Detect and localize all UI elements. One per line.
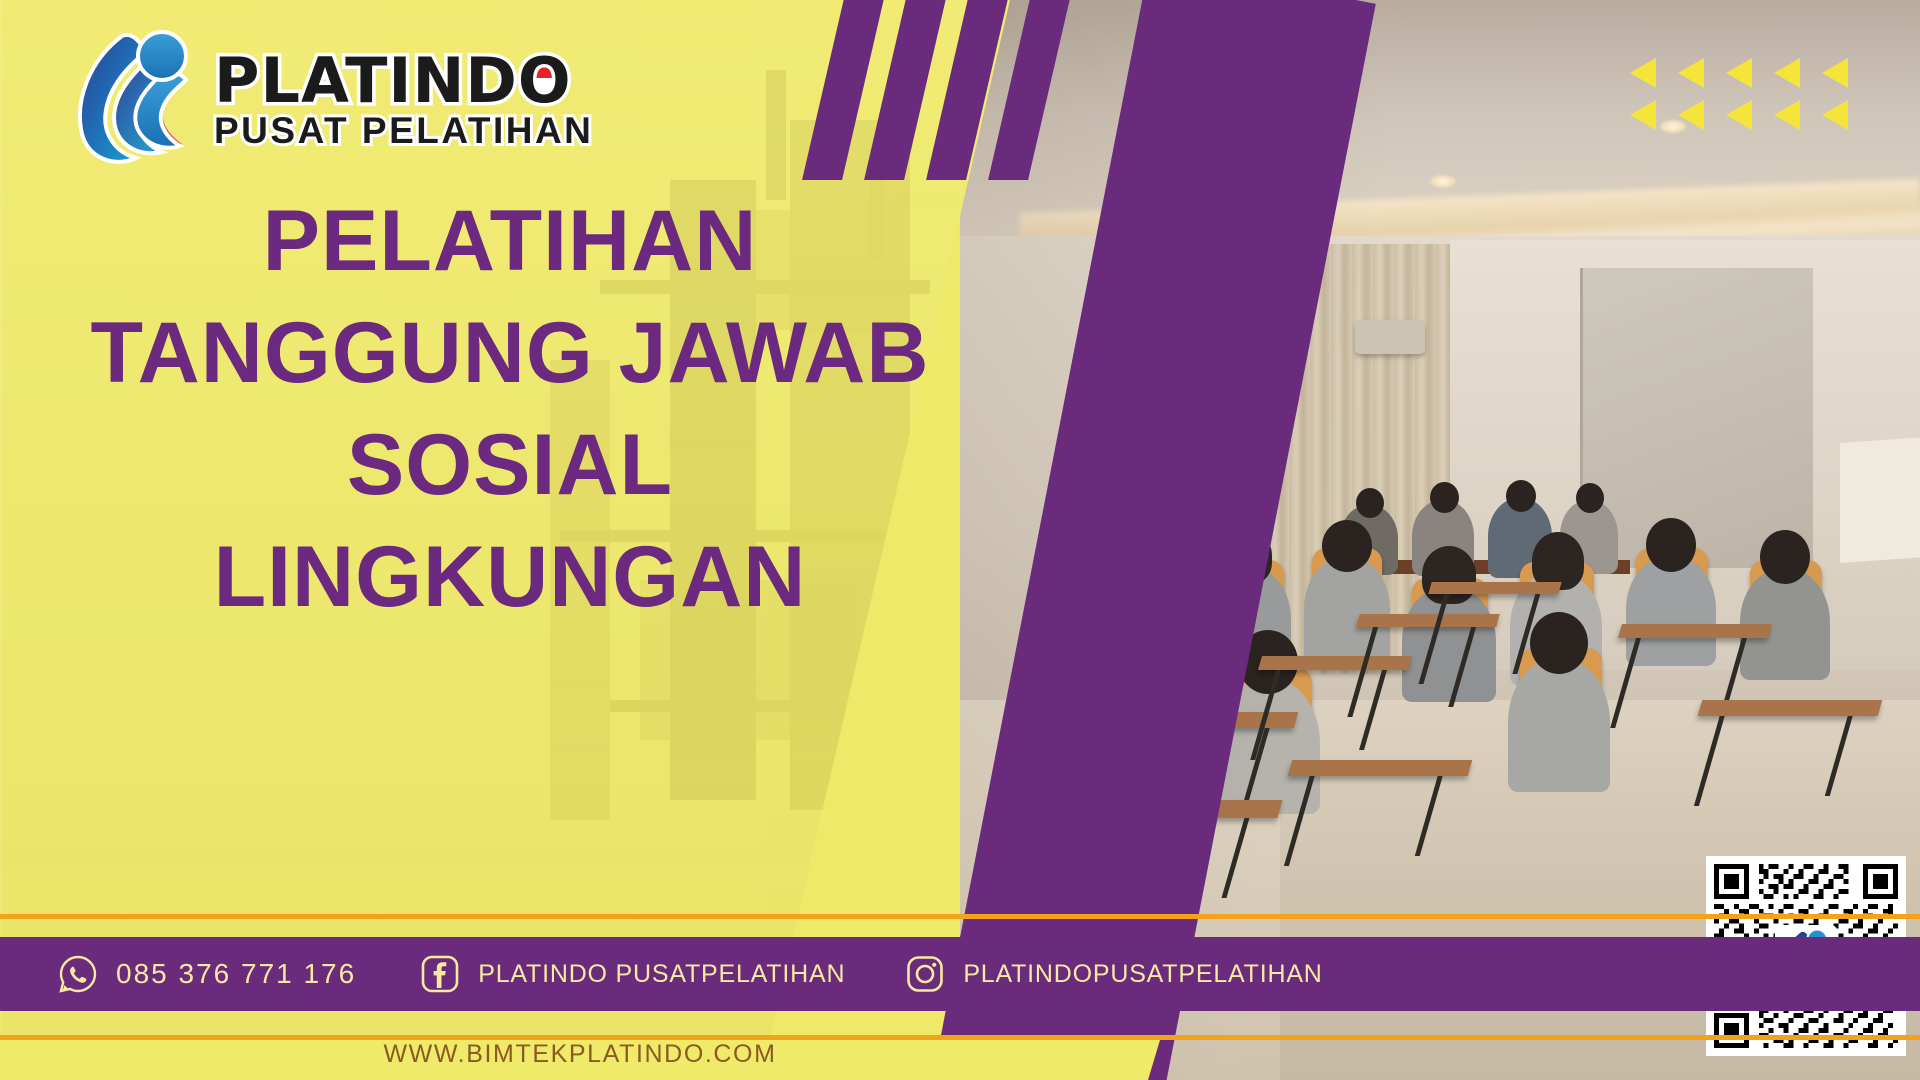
contact-facebook[interactable]: PLATINDO PUSATPELATIHAN [420,954,845,994]
top-slanted-bars [800,0,1060,190]
brand-logo[interactable]: PLATINDO PUSAT PELATIHAN [70,26,593,166]
instagram-handle: PLATINDOPUSATPELATIHAN [963,960,1322,989]
left-triangle-icon [1822,58,1848,88]
website-url[interactable]: WWW.BIMTEKPLATINDO.COM [0,1040,1160,1080]
left-triangle-icon [1630,58,1656,88]
left-triangle-icon [1822,100,1848,130]
left-triangle-icon [1726,100,1752,130]
brand-wordmark: PLATINDO PUSAT PELATIHAN [214,51,593,150]
contact-instagram[interactable]: PLATINDOPUSATPELATIHAN [905,954,1322,994]
triangle-row [1630,56,1910,90]
left-triangle-icon [1726,58,1752,88]
whatsapp-number: 085 376 771 176 [116,958,356,990]
brand-name-row: PLATINDO [214,51,593,111]
instagram-icon [905,954,945,994]
left-triangle-icon [1774,100,1800,130]
title-line-4: LINGKUNGAN [60,534,960,620]
banner-canvas: PLATINDO PUSAT PELATIHAN PELATIHAN TANGG… [0,0,1920,1080]
footer-contacts: 085 376 771 176 PLATINDO PUSATPELATIHAN … [0,937,1330,1011]
title-line-2: TANGGUNG JAWAB [60,310,960,396]
whatsapp-icon [58,954,98,994]
left-triangle-icon [1678,100,1704,130]
footer-rule-top [0,914,1920,919]
left-triangle-icon [1774,58,1800,88]
facebook-icon [420,954,460,994]
contact-whatsapp[interactable]: 085 376 771 176 [58,954,356,994]
page-title: PELATIHAN TANGGUNG JAWAB SOSIAL LINGKUNG… [60,198,960,620]
brand-name: PLATINDO [214,51,572,111]
title-line-1: PELATIHAN [60,198,960,284]
triangle-decoration-group [1630,56,1910,132]
left-triangle-icon [1678,58,1704,88]
left-triangle-icon [1630,100,1656,130]
brand-tagline: PUSAT PELATIHAN [214,112,593,149]
triangle-row [1630,98,1910,132]
facebook-handle: PLATINDO PUSATPELATIHAN [478,960,845,989]
title-line-3: SOSIAL [60,422,960,508]
platindo-swoosh-logo-icon [70,26,200,166]
